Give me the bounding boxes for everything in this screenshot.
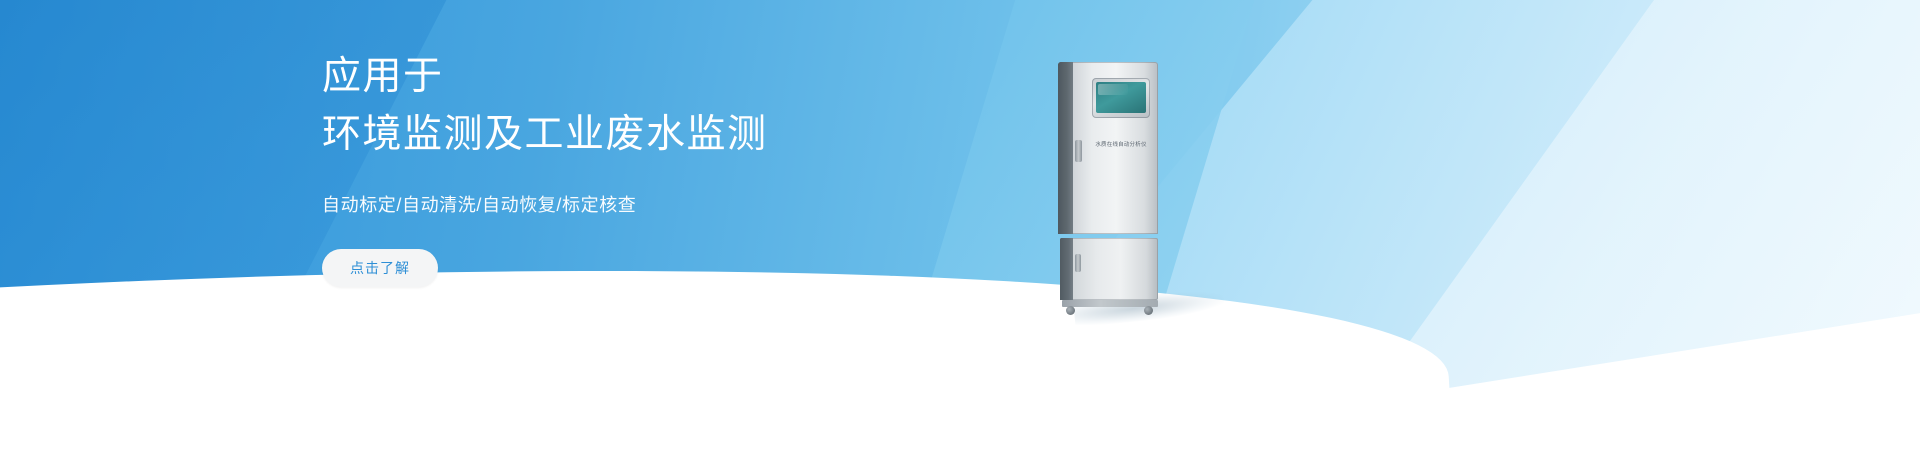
device-base xyxy=(1062,300,1158,307)
device-upper-door-frame xyxy=(1058,62,1073,234)
caster-wheel-icon xyxy=(1066,306,1075,315)
headline-line-1: 应用于 xyxy=(322,48,1022,106)
headline-line-2: 环境监测及工业废水监测 xyxy=(322,106,1022,164)
display-bezel xyxy=(1092,78,1150,118)
device-upper-cabinet: 水质在线自动分析仪 xyxy=(1058,62,1158,234)
hero-subtitle: 自动标定/自动清洗/自动恢复/标定核查 xyxy=(322,191,1022,217)
device-lower-cabinet xyxy=(1060,238,1158,300)
learn-more-button[interactable]: 点击了解 xyxy=(322,249,438,287)
door-handle-icon xyxy=(1075,140,1082,162)
device-lower-door-frame xyxy=(1060,238,1073,300)
caster-wheel-icon xyxy=(1144,306,1153,315)
display-icon xyxy=(1096,82,1146,113)
lower-door-handle-icon xyxy=(1075,254,1081,272)
hero-content: 应用于 环境监测及工业废水监测 自动标定/自动清洗/自动恢复/标定核查 点击了解 xyxy=(322,48,1022,287)
hero-banner: 应用于 环境监测及工业废水监测 自动标定/自动清洗/自动恢复/标定核查 点击了解… xyxy=(0,0,1920,450)
page-title: 应用于 环境监测及工业废水监测 xyxy=(322,48,1022,163)
water-quality-analyzer-image: 水质在线自动分析仪 xyxy=(1058,62,1174,314)
device-label: 水质在线自动分析仪 xyxy=(1088,142,1154,149)
